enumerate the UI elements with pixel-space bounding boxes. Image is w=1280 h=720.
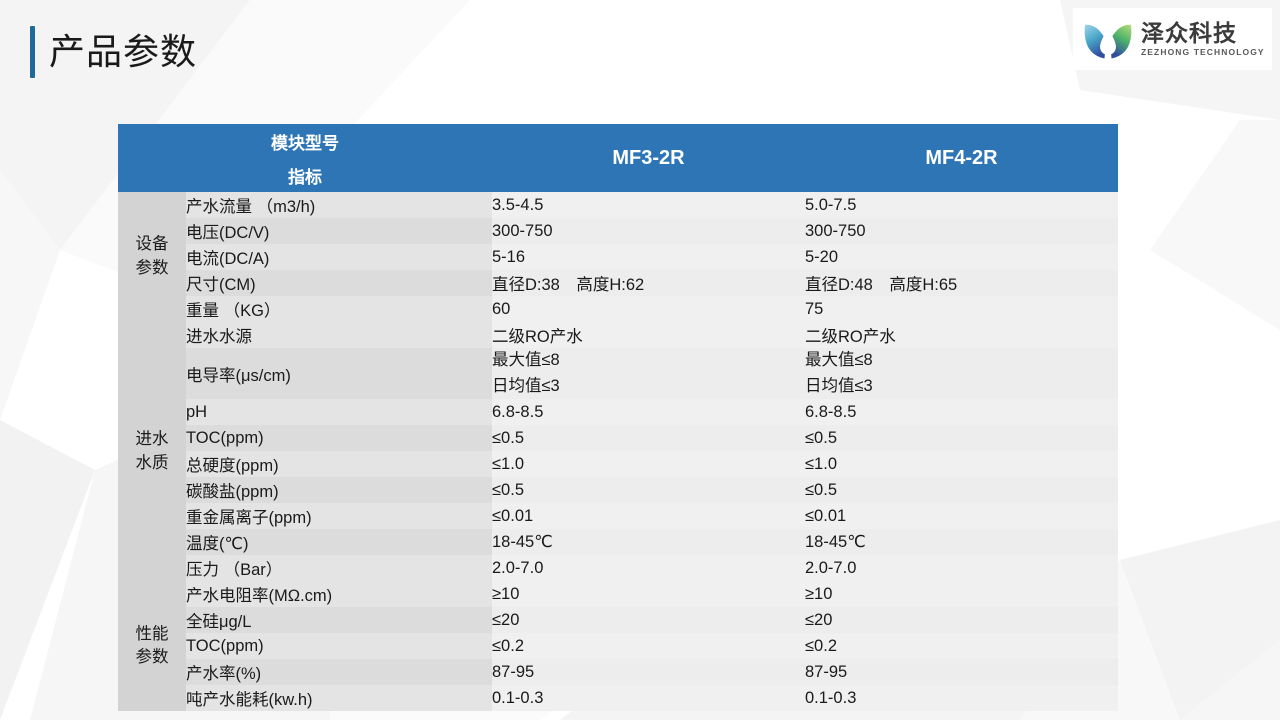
header-column-1: MF3-2R — [492, 124, 805, 192]
row-label: 进水水源 — [186, 322, 492, 348]
row-value-col1: ≤0.5 — [492, 477, 805, 503]
row-value-col2: 最大值≤8日均值≤3 — [805, 348, 1118, 399]
row-value-col1: 18-45℃ — [492, 529, 805, 555]
row-label: 重量 （KG） — [186, 296, 492, 322]
table-row: 重量 （KG）6075 — [118, 296, 1118, 322]
logo-name-cn: 泽众科技 — [1141, 21, 1265, 45]
row-label: 压力 （Bar） — [186, 555, 492, 581]
row-label: 全硅μg/L — [186, 607, 492, 633]
row-value-col1: ≤1.0 — [492, 451, 805, 477]
row-value-col1: ≤0.01 — [492, 503, 805, 529]
table-row: 电流(DC/A)5-165-20 — [118, 244, 1118, 270]
page-title: 产品参数 — [30, 26, 197, 78]
group-label-1: 设备参数 — [118, 192, 186, 322]
logo-name-en: ZEZHONG TECHNOLOGY — [1141, 47, 1265, 57]
leaf-waterdrop-icon — [1081, 16, 1135, 62]
row-value-col1: 2.0-7.0 — [492, 555, 805, 581]
company-logo: 泽众科技 ZEZHONG TECHNOLOGY — [1073, 8, 1272, 70]
row-value-col2: 二级RO产水 — [805, 322, 1118, 348]
table-row: 全硅μg/L≤20≤20 — [118, 607, 1118, 633]
row-label: pH — [186, 399, 492, 425]
row-value-col2: ≤20 — [805, 607, 1118, 633]
row-label: 电导率(μs/cm) — [186, 348, 492, 399]
table-row: 电导率(μs/cm)最大值≤8日均值≤3最大值≤8日均值≤3 — [118, 348, 1118, 399]
row-label: 温度(℃) — [186, 529, 492, 555]
row-label: TOC(ppm) — [186, 633, 492, 659]
table-row: 温度(℃)18-45℃18-45℃ — [118, 529, 1118, 555]
row-label: 电压(DC/V) — [186, 218, 492, 244]
row-value-col2: ≤0.2 — [805, 633, 1118, 659]
row-value-col2: 18-45℃ — [805, 529, 1118, 555]
row-value-col2: ≤1.0 — [805, 451, 1118, 477]
row-value-col1: ≤0.5 — [492, 425, 805, 451]
header-index-label: 指标 — [118, 158, 492, 192]
row-value-col1: 87-95 — [492, 659, 805, 685]
table-row: 尺寸(CM)直径D:38 高度H:62直径D:48 高度H:65 — [118, 270, 1118, 296]
row-label: 产水流量 （m3/h) — [186, 192, 492, 218]
row-label: 产水率(%) — [186, 659, 492, 685]
row-value-col2: ≤0.5 — [805, 425, 1118, 451]
row-value-col2: 300-750 — [805, 218, 1118, 244]
row-value-col2: 5-20 — [805, 244, 1118, 270]
row-value-col1: 6.8-8.5 — [492, 399, 805, 425]
row-value-col2: 2.0-7.0 — [805, 555, 1118, 581]
row-label: 碳酸盐(ppm) — [186, 477, 492, 503]
row-value-col2: 75 — [805, 296, 1118, 322]
row-label: 电流(DC/A) — [186, 244, 492, 270]
row-label: 吨产水能耗(kw.h) — [186, 685, 492, 711]
row-value-col1: ≤0.2 — [492, 633, 805, 659]
row-value-col2: 6.8-8.5 — [805, 399, 1118, 425]
title-accent-bar — [30, 26, 35, 78]
row-value-col1: ≥10 — [492, 581, 805, 607]
table-row: 进水水质进水水源二级RO产水二级RO产水 — [118, 322, 1118, 348]
table-row: 设备参数产水流量 （m3/h)3.5-4.55.0-7.5 — [118, 192, 1118, 218]
group-label-2: 进水水质 — [118, 322, 186, 581]
row-label: 尺寸(CM) — [186, 270, 492, 296]
row-value-col1: ≤20 — [492, 607, 805, 633]
row-label: TOC(ppm) — [186, 425, 492, 451]
table-header-row-model: 模块型号MF3-2RMF4-2R — [118, 124, 1118, 158]
row-value-col2: ≤0.5 — [805, 477, 1118, 503]
row-value-col1: 60 — [492, 296, 805, 322]
row-value-col2: ≤0.01 — [805, 503, 1118, 529]
table-row: pH6.8-8.56.8-8.5 — [118, 399, 1118, 425]
table-row: 吨产水能耗(kw.h)0.1-0.30.1-0.3 — [118, 685, 1118, 711]
row-value-col2: 5.0-7.5 — [805, 192, 1118, 218]
row-value-col2: 87-95 — [805, 659, 1118, 685]
row-value-col1: 二级RO产水 — [492, 322, 805, 348]
row-value-col1: 0.1-0.3 — [492, 685, 805, 711]
table-row: TOC(ppm)≤0.2≤0.2 — [118, 633, 1118, 659]
title-text: 产品参数 — [49, 34, 197, 70]
row-label: 产水电阻率(MΩ.cm) — [186, 581, 492, 607]
row-value-col2: ≥10 — [805, 581, 1118, 607]
row-value-col2: 0.1-0.3 — [805, 685, 1118, 711]
table-row: 压力 （Bar）2.0-7.02.0-7.0 — [118, 555, 1118, 581]
group-label-3: 性能参数 — [118, 581, 186, 711]
row-value-col1: 5-16 — [492, 244, 805, 270]
header-model-label: 模块型号 — [118, 124, 492, 158]
table-row: 重金属离子(ppm)≤0.01≤0.01 — [118, 503, 1118, 529]
row-label: 重金属离子(ppm) — [186, 503, 492, 529]
row-value-col1: 直径D:38 高度H:62 — [492, 270, 805, 296]
table-row: 性能参数产水电阻率(MΩ.cm)≥10≥10 — [118, 581, 1118, 607]
table-row: 总硬度(ppm)≤1.0≤1.0 — [118, 451, 1118, 477]
product-spec-table: 模块型号MF3-2RMF4-2R指标设备参数产水流量 （m3/h)3.5-4.5… — [118, 124, 1118, 711]
row-label: 总硬度(ppm) — [186, 451, 492, 477]
table-row: 电压(DC/V)300-750300-750 — [118, 218, 1118, 244]
row-value-col2: 直径D:48 高度H:65 — [805, 270, 1118, 296]
table-row: 碳酸盐(ppm)≤0.5≤0.5 — [118, 477, 1118, 503]
row-value-col1: 300-750 — [492, 218, 805, 244]
row-value-col1: 最大值≤8日均值≤3 — [492, 348, 805, 399]
header-column-2: MF4-2R — [805, 124, 1118, 192]
row-value-col1: 3.5-4.5 — [492, 192, 805, 218]
table-row: TOC(ppm)≤0.5≤0.5 — [118, 425, 1118, 451]
table-row: 产水率(%)87-9587-95 — [118, 659, 1118, 685]
logo-wordmark: 泽众科技 ZEZHONG TECHNOLOGY — [1141, 21, 1265, 57]
